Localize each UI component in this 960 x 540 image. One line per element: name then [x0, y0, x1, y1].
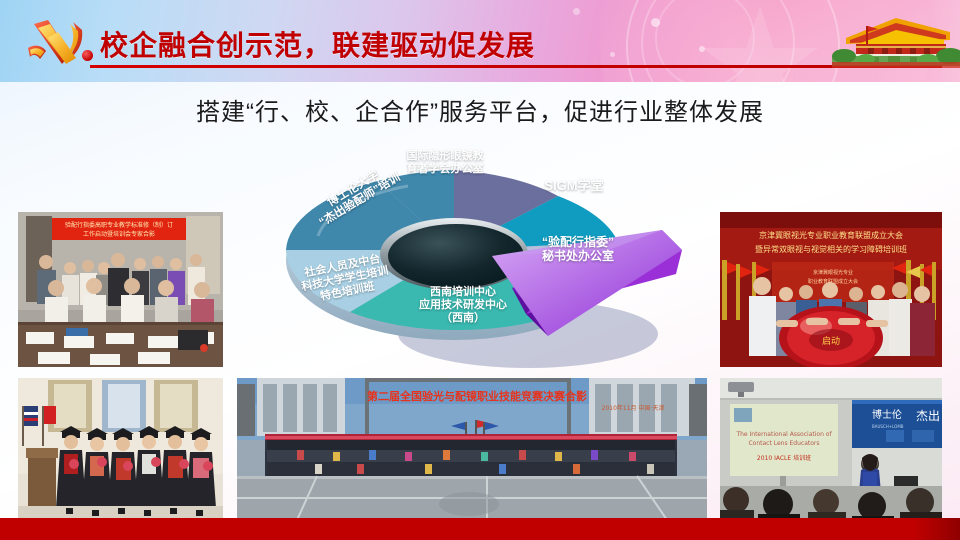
svg-text:验配行指委高职专业教学标准修（制）订: 验配行指委高职专业教学标准修（制）订 — [65, 221, 173, 229]
svg-text:暨异常双眼视与视觉相关的学习障碍培训班: 暨异常双眼视与视觉相关的学习障碍培训班 — [755, 244, 907, 254]
header-bokeh-dot-3 — [610, 52, 615, 57]
footer-bar — [0, 518, 960, 540]
svg-text:杰出: 杰出 — [916, 409, 940, 423]
diagram-label-southwest-center: 西南培训中心应用技术研发中心（西南） — [406, 286, 520, 324]
photo-graduation-ceremony — [18, 378, 223, 520]
slide-subtitle: 搭建“行、校、企合作”服务平台，促进行业整体发展 — [0, 92, 960, 127]
svg-text:工作启动暨培训会专家合影: 工作启动暨培训会专家合影 — [83, 230, 155, 238]
svg-text:第二届全国验光与配镜职业技能竞赛决赛合影: 第二届全国验光与配镜职业技能竞赛决赛合影 — [367, 389, 587, 403]
footer-accent — [914, 518, 960, 540]
partnership-donut-diagram: 国际隐形眼镜教育者学会办公室 SIGM学堂 博士伦大学“杰出验配师”培训 社会人… — [258, 138, 702, 370]
cpc-emblem-icon — [18, 14, 90, 70]
slide-canvas: 校企融合创示范，联建驱动促发展 — [0, 0, 960, 540]
svg-text:2010 IACLE 培训班: 2010 IACLE 培训班 — [757, 454, 811, 462]
svg-text:Contact Lens Educators: Contact Lens Educators — [748, 440, 819, 447]
svg-text:2010年11月 中国·天津: 2010年11月 中国·天津 — [602, 404, 665, 412]
svg-text:京津冀眼视光专业职业教育联盟成立大会: 京津冀眼视光专业职业教育联盟成立大会 — [759, 230, 903, 240]
tiananmen-gate-icon — [832, 10, 960, 68]
emblem-accent-dot — [82, 50, 93, 61]
page-title: 校企融合创示范，联建驱动促发展 — [100, 24, 535, 64]
svg-text:启动: 启动 — [822, 335, 840, 347]
diagram-label-secretariat-office: “验配行指委”秘书处办公室 — [520, 236, 636, 264]
svg-text:BAUSCH+LOMB: BAUSCH+LOMB — [872, 424, 904, 429]
header-divider-rule — [90, 65, 942, 68]
header-bokeh-dot-4 — [573, 8, 580, 15]
header-bokeh-dot-1 — [651, 18, 660, 27]
svg-text:The International Association: The International Association of — [735, 431, 832, 438]
photo-national-skills-competition: 第二届全国验光与配镜职业技能竞赛决赛合影 2010年11月 中国·天津 — [237, 378, 707, 520]
svg-text:京津冀眼视光专业: 京津冀眼视光专业 — [813, 269, 853, 276]
svg-text:博士伦: 博士伦 — [872, 408, 902, 421]
photo-iacle-lecture: The International Association of Contact… — [720, 378, 942, 520]
photo-expert-group-meeting: 验配行指委高职专业教学标准修（制）订 工作启动暨培训会专家合影 — [18, 212, 223, 367]
photo-alliance-launch-ceremony: 京津冀眼视光专业职业教育联盟成立大会 暨异常双眼视与视觉相关的学习障碍培训班 京… — [720, 212, 942, 367]
slide-header: 校企融合创示范，联建驱动促发展 — [0, 0, 960, 82]
diagram-label-sigm-academy: SIGM学堂 — [526, 178, 622, 193]
